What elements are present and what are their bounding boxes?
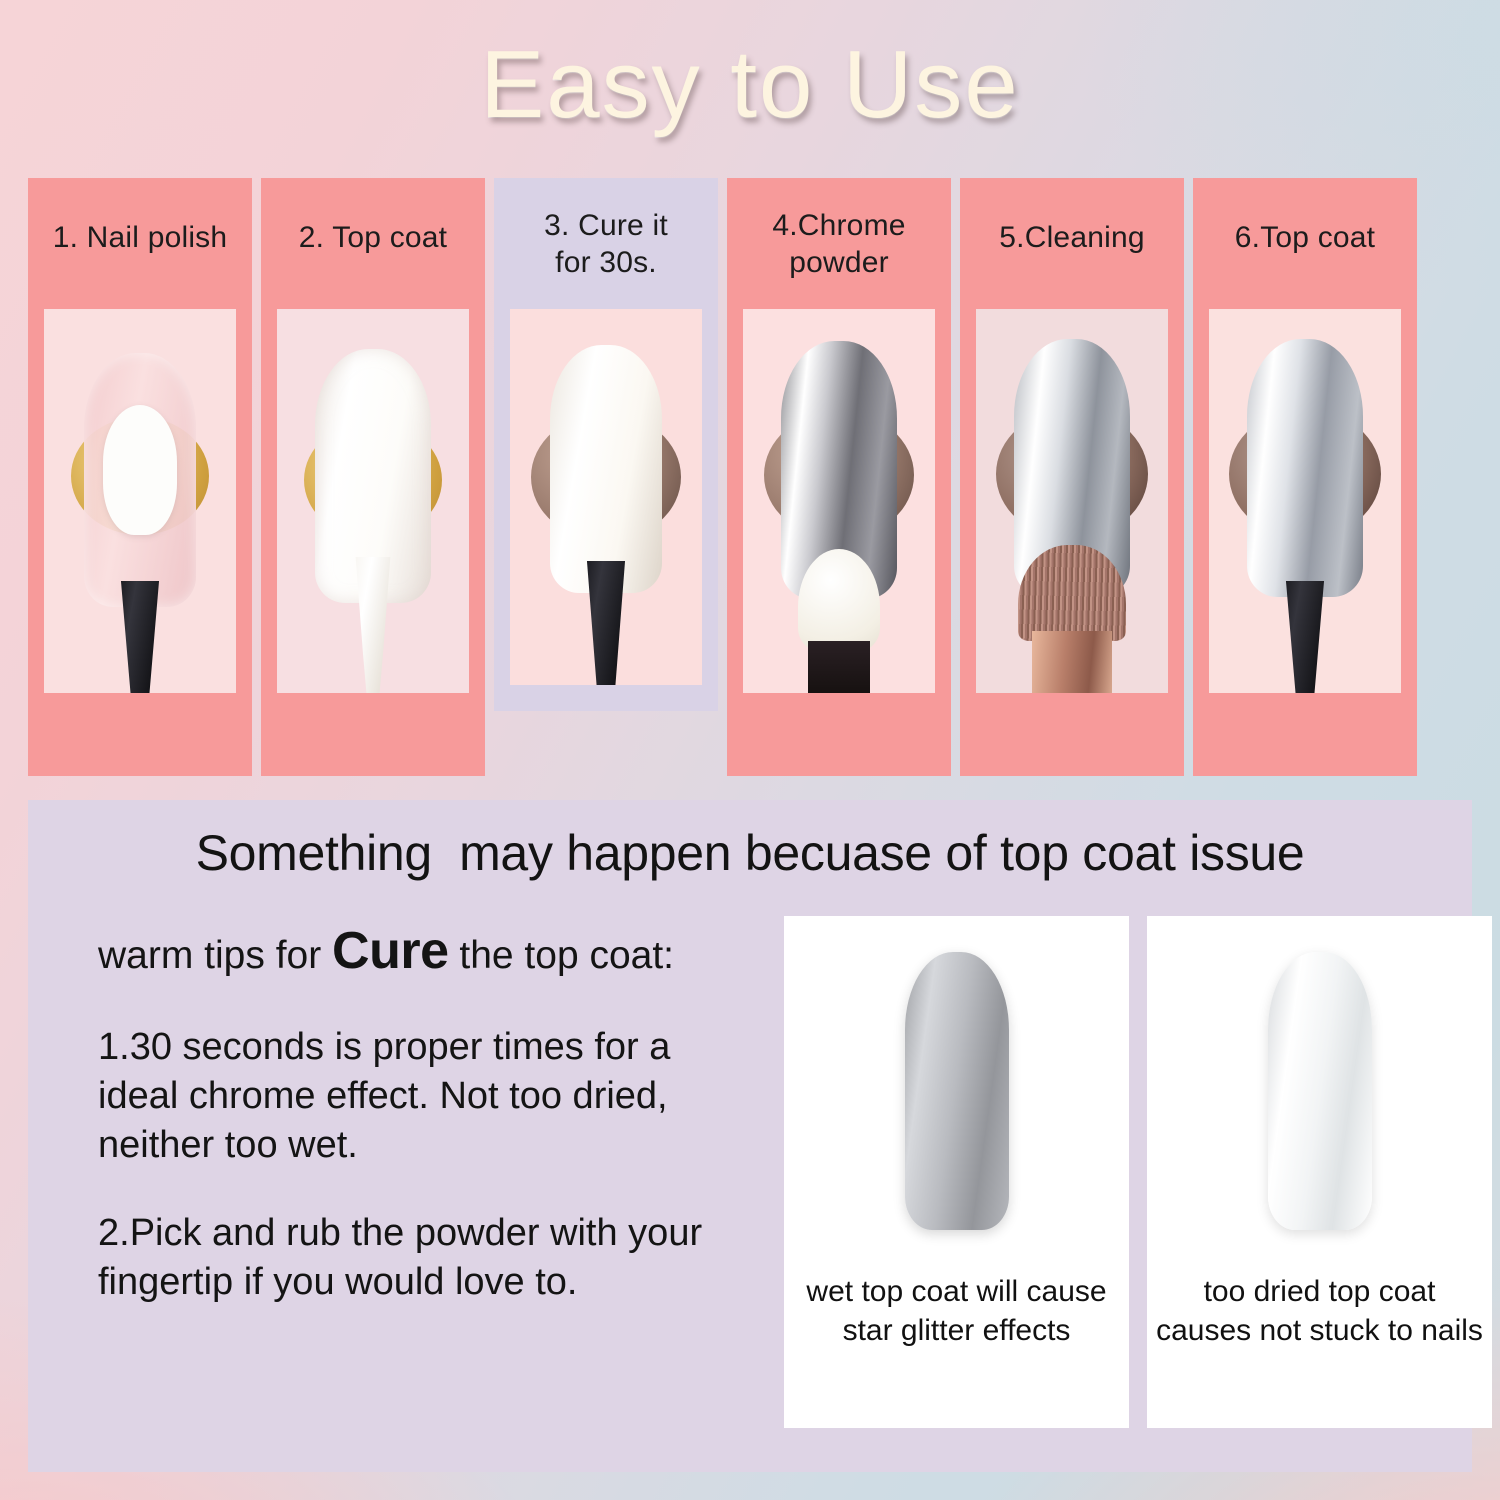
step-caption-5: 5.Cleaning	[991, 178, 1152, 257]
compare-image-dried	[1147, 916, 1492, 1264]
step-card-4[interactable]: 4.Chrome powder	[727, 178, 951, 776]
step-caption-2: 2. Top coat	[291, 178, 455, 257]
panel-heading: Something may happen becuase of top coat…	[28, 824, 1472, 882]
step-photo-6	[1209, 309, 1401, 693]
lead-strong: Cure	[332, 922, 448, 980]
compare-row: wet top coat will cause star glitter eff…	[784, 916, 1492, 1428]
step-photo-5	[976, 309, 1168, 693]
nail-chrome-finished	[1247, 339, 1363, 597]
step-card-5[interactable]: 5.Cleaning	[960, 178, 1184, 776]
compare-image-wet	[784, 916, 1129, 1264]
white-polish-blob	[103, 405, 177, 535]
nail-matte-silver	[905, 952, 1009, 1230]
step-card-6[interactable]: 6.Top coat	[1193, 178, 1417, 776]
lead-after: the top coat:	[449, 934, 675, 977]
compare-card-dried[interactable]: too dried top coat causes not stuck to n…	[1147, 916, 1492, 1428]
nail-glossy-pearl	[1268, 952, 1372, 1230]
infographic-page: Easy to Use 1. Nail polish 2. Top coat 3…	[0, 0, 1500, 1500]
step-caption-6: 6.Top coat	[1227, 178, 1383, 257]
tip-2: 2.Pick and rub the powder with your fing…	[98, 1209, 748, 1308]
sponge-applicator-icon	[798, 549, 880, 693]
brush-bristles	[1018, 545, 1126, 641]
step-photo-2	[277, 309, 469, 693]
step-card-2[interactable]: 2. Top coat	[261, 178, 485, 776]
lead-before: warm tips for	[98, 934, 332, 977]
compare-card-wet[interactable]: wet top coat will cause star glitter eff…	[784, 916, 1129, 1428]
compare-caption-wet: wet top coat will cause star glitter eff…	[792, 1272, 1121, 1350]
step-caption-4: 4.Chrome powder	[764, 178, 913, 281]
step-caption-1: 1. Nail polish	[45, 178, 236, 257]
dust-brush-icon	[1012, 545, 1132, 693]
step-photo-4	[743, 309, 935, 693]
steps-strip: 1. Nail polish 2. Top coat 3. Cure it fo…	[28, 178, 1472, 778]
step-card-1[interactable]: 1. Nail polish	[28, 178, 252, 776]
issues-panel: Something may happen becuase of top coat…	[28, 800, 1472, 1472]
warm-tips-lead: warm tips for Cure the top coat:	[98, 918, 748, 985]
page-title: Easy to Use	[0, 34, 1500, 136]
step-caption-3: 3. Cure it for 30s.	[536, 178, 676, 281]
sponge-tip	[798, 549, 880, 653]
polish-brush-icon	[1277, 581, 1333, 693]
nail-cured-white	[550, 345, 662, 593]
warm-tips-block: warm tips for Cure the top coat: 1.30 se…	[98, 918, 748, 1308]
step-photo-3	[510, 309, 702, 685]
brush-ferrule	[1032, 631, 1112, 693]
step-photo-1	[44, 309, 236, 693]
sponge-handle	[808, 641, 870, 693]
step-card-3[interactable]: 3. Cure it for 30s.	[494, 178, 718, 711]
tip-1: 1.30 seconds is proper times for a ideal…	[98, 1023, 748, 1171]
compare-caption-dried: too dried top coat causes not stuck to n…	[1155, 1272, 1484, 1350]
